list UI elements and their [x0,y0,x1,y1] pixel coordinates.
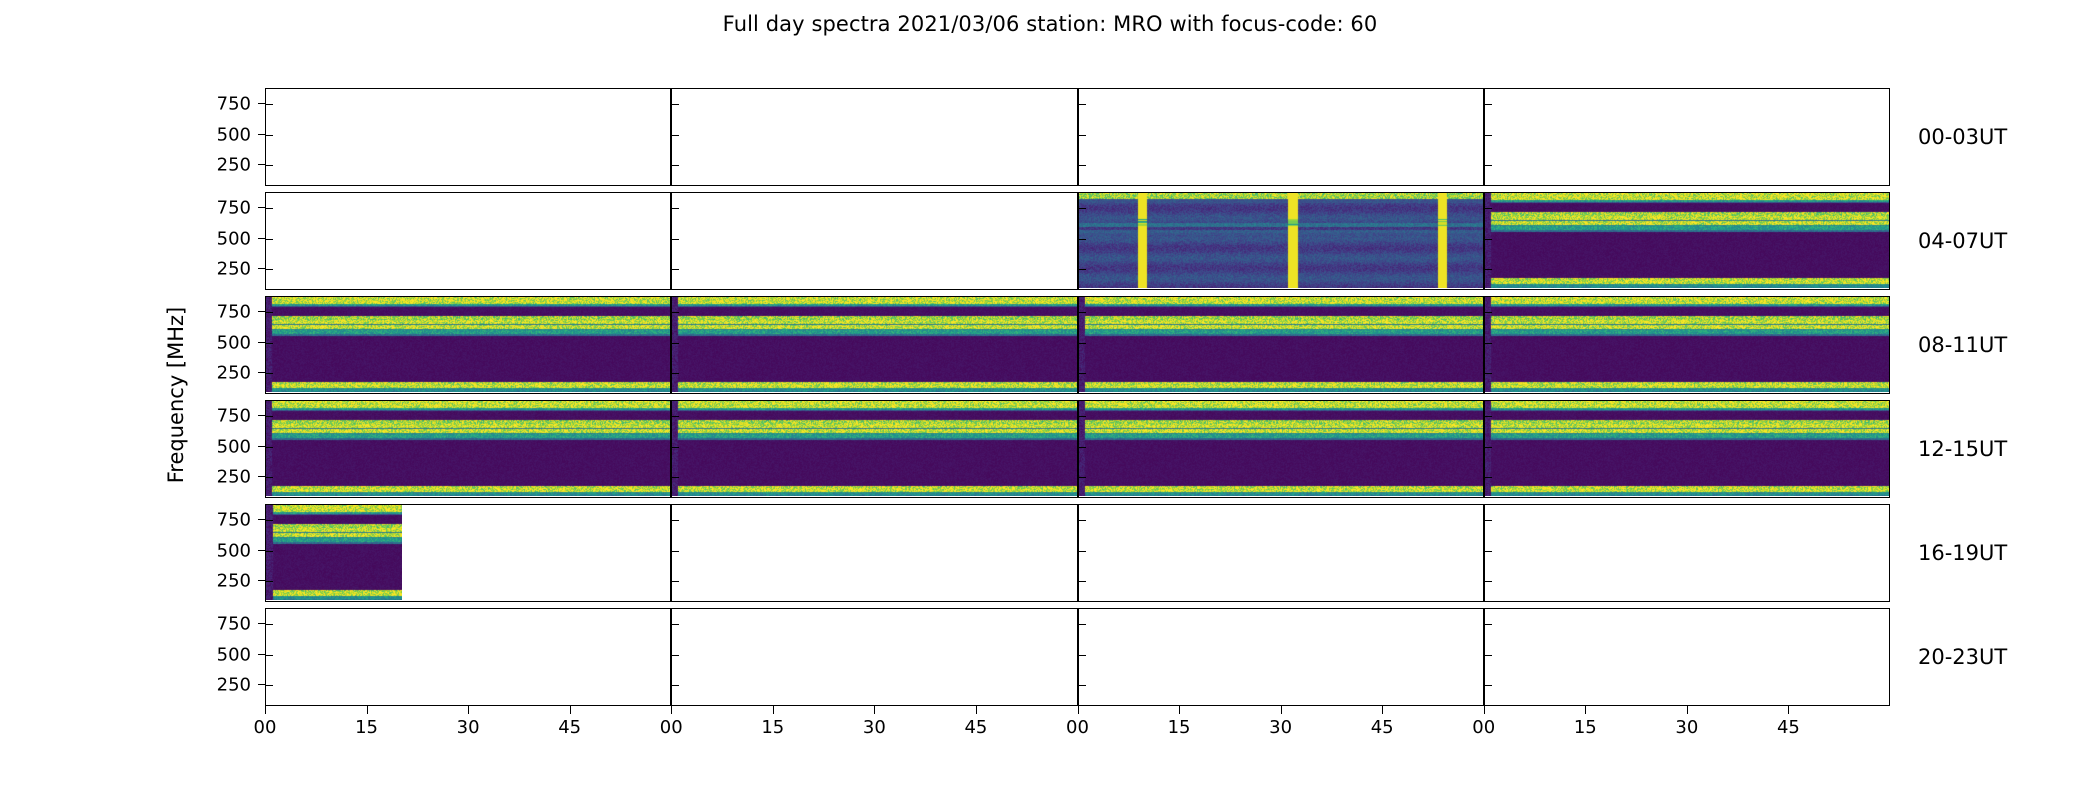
y-axis-tick: 250 [258,268,265,269]
hour-panel-08ut[interactable] [265,296,671,394]
hour-panel-23ut[interactable] [1484,608,1890,706]
row-label-04-07ut: 04-07UT [1918,229,2007,253]
y-tick-mark [672,269,679,270]
y-tick-mark [672,104,679,105]
x-axis-tick [773,706,774,714]
row-label-20-23ut: 20-23UT [1918,645,2007,669]
y-axis-tick-label: 500 [217,228,251,249]
spectrogram-raster [672,297,1077,392]
y-tick-mark [1079,581,1086,582]
row-label-00-03ut: 00-03UT [1918,125,2007,149]
row-label-12-15ut: 12-15UT [1918,437,2007,461]
y-tick-mark [1485,551,1492,552]
y-tick-mark [672,655,679,656]
y-tick-mark [1079,208,1086,209]
x-axis-tick-label: 00 [254,717,277,738]
y-tick-mark [1485,624,1492,625]
x-axis-tick-label: 15 [761,717,784,738]
y-axis-tick-label: 250 [217,675,251,696]
hour-panel-04ut[interactable] [265,192,671,290]
spectrogram-raster [1485,401,1890,496]
y-axis-label: Frequency [MHz] [164,307,188,483]
y-tick-mark [266,685,273,686]
y-axis-tick: 250 [258,372,265,373]
y-tick-mark [1485,477,1492,478]
y-tick-mark [1485,655,1492,656]
spectrogram-raster [672,401,1077,496]
y-tick-mark [672,447,679,448]
x-axis-tick [1788,706,1789,714]
x-axis-tick-label: 30 [863,717,886,738]
y-tick-mark [672,581,679,582]
x-axis-tick-label: 45 [558,717,581,738]
y-tick-mark [672,551,679,552]
x-axis-tick-label: 30 [457,717,480,738]
y-tick-mark [672,624,679,625]
y-tick-mark [266,416,273,417]
y-axis-tick-label: 500 [217,124,251,145]
y-tick-mark [1079,312,1086,313]
y-axis-tick-label: 250 [217,363,251,384]
page-title: Full day spectra 2021/03/06 station: MRO… [0,12,2100,36]
y-tick-mark [672,520,679,521]
y-tick-mark [1485,343,1492,344]
y-tick-mark [266,135,273,136]
hour-panel-01ut[interactable] [671,88,1077,186]
y-axis-tick: 750 [258,623,265,624]
y-axis-tick: 750 [258,103,265,104]
x-axis-tick-label: 30 [1675,717,1698,738]
y-tick-mark [1079,520,1086,521]
y-axis-tick-label: 750 [217,301,251,322]
hour-panel-14ut[interactable] [1078,400,1484,498]
y-axis-tick: 250 [258,580,265,581]
x-axis-tick [367,706,368,714]
hour-panel-13ut[interactable] [671,400,1077,498]
y-axis-tick-label: 250 [217,259,251,280]
y-tick-mark [1485,447,1492,448]
spectrogram-row-20-23ut: 25050075020-23UT [265,608,1890,706]
y-axis-tick: 250 [258,476,265,477]
y-tick-mark [266,343,273,344]
y-tick-mark [672,343,679,344]
row-label-16-19ut: 16-19UT [1918,541,2007,565]
y-tick-mark [266,208,273,209]
hour-panel-11ut[interactable] [1484,296,1890,394]
y-axis-tick: 500 [258,342,265,343]
hour-panel-12ut[interactable] [265,400,671,498]
y-tick-mark [1079,447,1086,448]
y-axis-tick: 750 [258,415,265,416]
y-tick-mark [672,208,679,209]
y-tick-mark [1079,624,1086,625]
y-tick-mark [266,104,273,105]
y-axis-tick: 750 [258,519,265,520]
y-axis-tick-label: 750 [217,613,251,634]
hour-panel-19ut[interactable] [1484,504,1890,602]
y-tick-mark [672,312,679,313]
hour-panel-02ut[interactable] [1078,88,1484,186]
y-tick-mark [1485,416,1492,417]
spectrogram-row-08-11ut: 25050075008-11UT [265,296,1890,394]
y-axis-tick-label: 750 [217,93,251,114]
hour-panel-20ut[interactable] [265,608,671,706]
y-axis-tick-label: 500 [217,540,251,561]
hour-panel-17ut[interactable] [671,504,1077,602]
y-tick-mark [1485,520,1492,521]
y-tick-mark [266,165,273,166]
y-tick-mark [266,239,273,240]
spectrogram-row-12-15ut: 25050075012-15UT [265,400,1890,498]
y-axis-tick: 250 [258,164,265,165]
x-axis-tick-label: 15 [1168,717,1191,738]
hour-panel-00ut[interactable] [265,88,671,186]
hour-panel-10ut[interactable] [1078,296,1484,394]
y-axis-tick-label: 500 [217,644,251,665]
x-axis-tick [1078,706,1079,714]
spectrogram-raster [266,401,671,496]
spectrogram-raster [1485,297,1890,392]
y-axis-tick: 250 [258,684,265,685]
x-axis-tick [1179,706,1180,714]
y-tick-mark [266,312,273,313]
y-axis-tick: 500 [258,550,265,551]
y-tick-mark [1079,239,1086,240]
y-tick-mark [266,551,273,552]
hour-panel-03ut[interactable] [1484,88,1890,186]
spectrogram-raster [266,297,671,392]
x-axis-tick [976,706,977,714]
spectrogram-row-04-07ut: 25050075004-07UT [265,192,1890,290]
y-tick-mark [266,477,273,478]
spectrogram-raster [1485,193,1890,288]
hour-panel-16ut[interactable] [265,504,671,602]
x-axis: 00153045001530450015304500153045 [265,706,1890,766]
y-axis-tick-label: 750 [217,197,251,218]
spectrogram-row-16-19ut: 25050075016-19UT [265,504,1890,602]
x-axis-tick [1484,706,1485,714]
y-tick-mark [1485,581,1492,582]
x-axis-tick [1687,706,1688,714]
y-axis-tick-label: 250 [217,571,251,592]
spectrogram-raster [1079,193,1484,288]
x-axis-tick-label: 45 [964,717,987,738]
y-axis-tick-label: 500 [217,332,251,353]
y-tick-mark [266,447,273,448]
y-tick-mark [672,239,679,240]
y-tick-mark [672,135,679,136]
y-tick-mark [1079,104,1086,105]
hour-panel-15ut[interactable] [1484,400,1890,498]
spectrogram-rows: 25050075000-03UT25050075004-07UT25050075… [265,88,1890,706]
y-tick-mark [266,373,273,374]
row-label-08-11ut: 08-11UT [1918,333,2007,357]
y-axis-tick: 500 [258,654,265,655]
y-axis-tick: 750 [258,207,265,208]
hour-panel-09ut[interactable] [671,296,1077,394]
x-axis-tick-label: 45 [1371,717,1394,738]
y-tick-mark [672,416,679,417]
y-tick-mark [1485,269,1492,270]
y-tick-mark [266,269,273,270]
y-tick-mark [1079,269,1086,270]
y-tick-mark [1485,239,1492,240]
y-tick-mark [266,520,273,521]
spectrogram-raster [266,505,402,600]
hour-panel-21ut[interactable] [671,608,1077,706]
y-axis-tick: 500 [258,446,265,447]
y-axis-tick-label: 250 [217,155,251,176]
x-axis-tick [468,706,469,714]
spectrogram-raster [1079,401,1484,496]
y-tick-mark [266,655,273,656]
y-tick-mark [672,477,679,478]
y-tick-mark [1079,477,1086,478]
y-tick-mark [1485,685,1492,686]
x-axis-tick-label: 00 [1066,717,1089,738]
hour-panel-06ut[interactable] [1078,192,1484,290]
y-tick-mark [1485,208,1492,209]
hour-panel-05ut[interactable] [671,192,1077,290]
x-axis-tick [265,706,266,714]
y-tick-mark [1079,655,1086,656]
y-tick-mark [1485,165,1492,166]
y-tick-mark [1079,373,1086,374]
hour-panel-22ut[interactable] [1078,608,1484,706]
y-tick-mark [1079,416,1086,417]
y-tick-mark [672,373,679,374]
y-axis-tick: 500 [258,238,265,239]
x-axis-tick [671,706,672,714]
x-axis-tick-label: 15 [1574,717,1597,738]
hour-panel-18ut[interactable] [1078,504,1484,602]
y-axis-tick: 500 [258,134,265,135]
y-tick-mark [1079,551,1086,552]
y-axis-tick-label: 750 [217,405,251,426]
y-tick-mark [1485,135,1492,136]
spectrogram-raster [1079,297,1484,392]
y-tick-mark [1485,373,1492,374]
x-axis-tick-label: 30 [1269,717,1292,738]
x-axis-tick [570,706,571,714]
x-axis-tick [1281,706,1282,714]
y-tick-mark [266,581,273,582]
y-axis-tick-label: 250 [217,467,251,488]
y-tick-mark [1485,104,1492,105]
y-tick-mark [266,624,273,625]
x-axis-tick-label: 45 [1777,717,1800,738]
y-axis-tick-label: 500 [217,436,251,457]
y-axis-tick: 750 [258,311,265,312]
y-tick-mark [1485,312,1492,313]
x-axis-tick-label: 15 [355,717,378,738]
y-tick-mark [1079,685,1086,686]
hour-panel-07ut[interactable] [1484,192,1890,290]
y-tick-mark [1079,165,1086,166]
y-tick-mark [672,685,679,686]
y-axis-tick-label: 750 [217,509,251,530]
spectrogram-row-00-03ut: 25050075000-03UT [265,88,1890,186]
y-tick-mark [1079,343,1086,344]
y-tick-mark [672,165,679,166]
x-axis-tick-label: 00 [660,717,683,738]
x-axis-tick [1382,706,1383,714]
y-tick-mark [1079,135,1086,136]
x-axis-tick [874,706,875,714]
x-axis-tick-label: 00 [1472,717,1495,738]
x-axis-tick [1585,706,1586,714]
